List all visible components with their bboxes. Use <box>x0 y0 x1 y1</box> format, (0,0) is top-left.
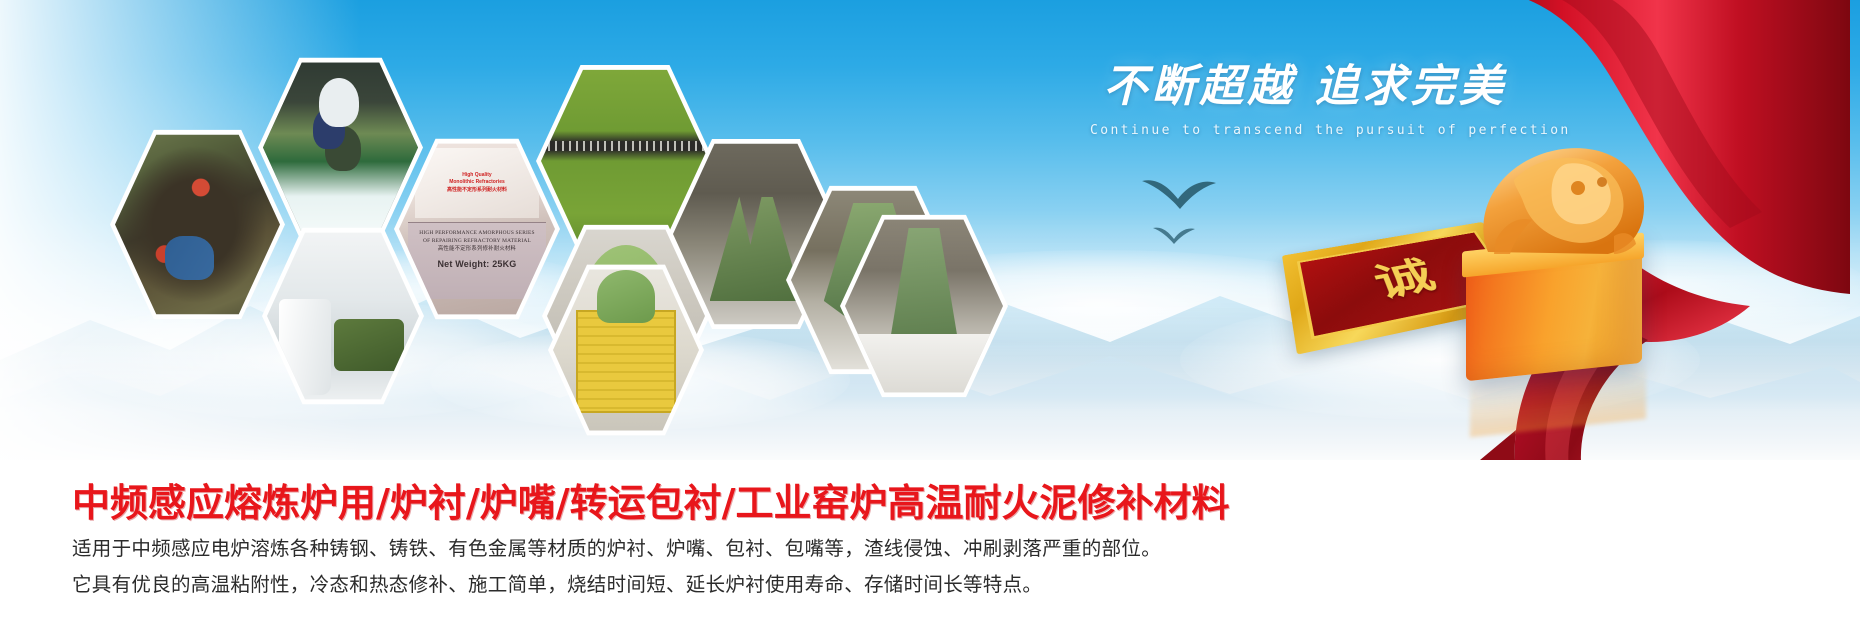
sack-line-3: 高性能不定形系列耐火材料 <box>447 187 507 193</box>
hex-photo-buckets[interactable] <box>262 225 424 407</box>
headline-title: 中频感应熔炼炉用/炉衬/炉嘴/转运包衬/工业窑炉高温耐火泥修补材料 <box>72 472 1230 527</box>
product-sack: High Quality Monolithic Refractories 高性能… <box>415 148 540 218</box>
description-line-1: 适用于中频感应电炉溶炼各种铸钢、铸铁、有色金属等材质的炉衬、炉嘴、包衬、包嘴等，… <box>72 532 1161 561</box>
carton-label: HIGH PERFORMANCE AMORPHOUS SERIES OF REP… <box>408 222 545 299</box>
carton-line-1: HIGH PERFORMANCE AMORPHOUS SERIES <box>419 230 534 236</box>
hex-photo-product-bag[interactable]: High Quality Monolithic Refractories 高性能… <box>394 136 560 322</box>
photo-art <box>115 132 280 317</box>
jade-stamp <box>1460 130 1665 380</box>
photo-art <box>267 230 419 402</box>
seal-character: 诚 <box>1369 256 1441 303</box>
hex-photo-worker-spraying[interactable] <box>258 55 423 240</box>
carton-net-weight: Net Weight: 25KG <box>408 258 545 272</box>
photo-art: High Quality Monolithic Refractories 高性能… <box>399 141 555 317</box>
dragon-carving-icon <box>1474 136 1650 256</box>
dragon-seal-group: 诚 <box>1280 120 1680 410</box>
promo-banner: 不断超越 追求完美 Continue to transcend the purs… <box>0 0 1860 640</box>
sack-line-1: High Quality <box>462 172 491 178</box>
carton-line-3: 高性能不定形系列修补耐火材料 <box>438 246 516 252</box>
sack-line-2: Monolithic Refractories <box>449 179 505 185</box>
hex-photo-collage: High Quality Monolithic Refractories 高性能… <box>0 0 1400 470</box>
sack-text: High Quality Monolithic Refractories 高性能… <box>425 172 530 195</box>
caption-block: 中频感应熔炼炉用/炉衬/炉嘴/转运包衬/工业窑炉高温耐火泥修补材料 适用于中频感… <box>0 460 1860 640</box>
photo-art <box>845 217 1003 395</box>
carton-line-2: OF REPAIRING REFRACTORY MATERIAL <box>423 238 531 244</box>
photo-art <box>553 267 699 433</box>
description-line-2: 它具有优良的高温粘附性，冷态和热态修补、施工简单，烧结时间短、延长炉衬使用寿命、… <box>72 568 1042 597</box>
photo-art <box>263 60 418 235</box>
hex-photo-workers-lining-furnace[interactable] <box>110 127 285 322</box>
